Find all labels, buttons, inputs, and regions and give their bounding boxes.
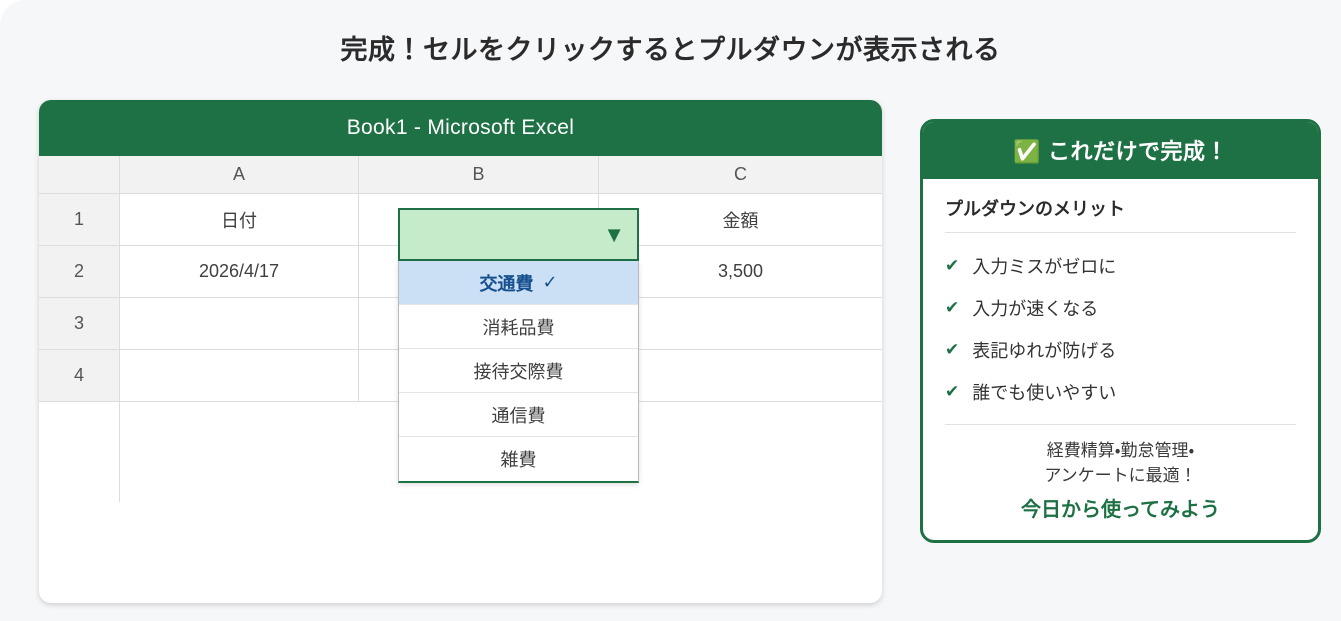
column-header-row: A B C — [39, 156, 882, 194]
dropdown-option-0[interactable]: 交通費 ✓ — [399, 261, 638, 305]
screenshot-root: 完成！セルをクリックするとプルダウンが表示される Book1 - Microso… — [0, 0, 1341, 621]
benefit-label: 入力ミスがゼロに — [972, 253, 1116, 279]
excel-title-text: Book1 - Microsoft Excel — [347, 116, 574, 140]
benefit-label: 入力が速くなる — [972, 295, 1098, 321]
check-icon: ✔ — [945, 340, 959, 360]
check-icon: ✔ — [945, 298, 959, 318]
cell-a1[interactable]: 日付 — [120, 194, 359, 246]
check-icon: ✔ — [945, 382, 959, 402]
footer-cta-text: 今日から使ってみよう — [945, 493, 1296, 522]
info-panel-footer: 経費精算・勤怠管理・ アンケートに最適！ 今日から使ってみよう — [945, 424, 1296, 522]
row-header-2[interactable]: 2 — [39, 246, 120, 298]
column-header-a[interactable]: A — [120, 156, 359, 194]
dropdown-option-label: 雑費 — [501, 446, 537, 472]
cell-a3[interactable] — [120, 298, 359, 350]
dropdown-option-4[interactable]: 雑費 — [399, 437, 638, 481]
check-icon: ✓ — [542, 272, 557, 293]
footer-lead-line1: 経費精算・勤怠管理・ — [945, 439, 1296, 464]
cell-c3[interactable] — [599, 298, 882, 350]
corner-header-cell[interactable] — [39, 156, 120, 194]
page-title: 完成！セルをクリックするとプルダウンが表示される — [0, 28, 1341, 67]
excel-titlebar: Book1 - Microsoft Excel — [39, 100, 882, 156]
cell-a2[interactable]: 2026/4/17 — [120, 246, 359, 298]
row-header-gutter — [39, 402, 120, 502]
info-panel-subtitle: プルダウンのメリット — [945, 195, 1296, 233]
row-header-1[interactable]: 1 — [39, 194, 120, 246]
info-panel-header: ✅これだけで完成！ — [923, 122, 1318, 179]
dropdown-option-2[interactable]: 接待交際費 — [399, 349, 638, 393]
selected-cell-b2[interactable]: ▼ — [398, 208, 639, 261]
dropdown-option-1[interactable]: 消耗品費 — [399, 305, 638, 349]
row-header-4[interactable]: 4 — [39, 350, 120, 402]
row-header-3[interactable]: 3 — [39, 298, 120, 350]
dropdown-option-label: 通信費 — [492, 402, 546, 428]
info-panel-body: プルダウンのメリット ✔ 入力ミスがゼロに ✔ 入力が速くなる ✔ 表記ゆれが防… — [923, 179, 1318, 540]
excel-window: Book1 - Microsoft Excel A B C 1 日付 勘定科目 … — [39, 100, 882, 603]
benefit-label: 誰でも使いやすい — [972, 379, 1116, 405]
list-item: ✔ 表記ゆれが防げる — [945, 329, 1296, 371]
info-panel: ✅これだけで完成！ プルダウンのメリット ✔ 入力ミスがゼロに ✔ 入力が速くな… — [920, 119, 1321, 543]
dropdown-option-3[interactable]: 通信費 — [399, 393, 638, 437]
benefit-list: ✔ 入力ミスがゼロに ✔ 入力が速くなる ✔ 表記ゆれが防げる ✔ 誰でも使いや… — [945, 245, 1296, 413]
footer-lead-line2: アンケートに最適！ — [945, 464, 1296, 489]
cell-c2[interactable]: 3,500 — [599, 246, 882, 298]
check-icon: ✔ — [945, 256, 959, 276]
column-header-b[interactable]: B — [359, 156, 599, 194]
column-header-c[interactable]: C — [599, 156, 882, 194]
cell-a4[interactable] — [120, 350, 359, 402]
dropdown-option-label: 交通費 — [479, 270, 533, 296]
cell-c1[interactable]: 金額 — [599, 194, 882, 246]
chevron-down-icon[interactable]: ▼ — [603, 224, 625, 246]
dropdown-option-label: 接待交際費 — [474, 358, 564, 384]
dropdown-list: 交通費 ✓ 消耗品費 接待交際費 通信費 雑費 — [398, 261, 639, 483]
dropdown-option-label: 消耗品費 — [483, 314, 555, 340]
check-mark-button-icon: ✅ — [1013, 139, 1041, 164]
list-item: ✔ 入力ミスがゼロに — [945, 245, 1296, 287]
spreadsheet-grid: A B C 1 日付 勘定科目 金額 2 2026/4/17 3,500 3 — [39, 156, 882, 502]
benefit-label: 表記ゆれが防げる — [972, 337, 1116, 363]
info-panel-header-title: これだけで完成！ — [1048, 139, 1228, 164]
list-item: ✔ 誰でも使いやすい — [945, 371, 1296, 413]
cell-c4[interactable] — [599, 350, 882, 402]
list-item: ✔ 入力が速くなる — [945, 287, 1296, 329]
